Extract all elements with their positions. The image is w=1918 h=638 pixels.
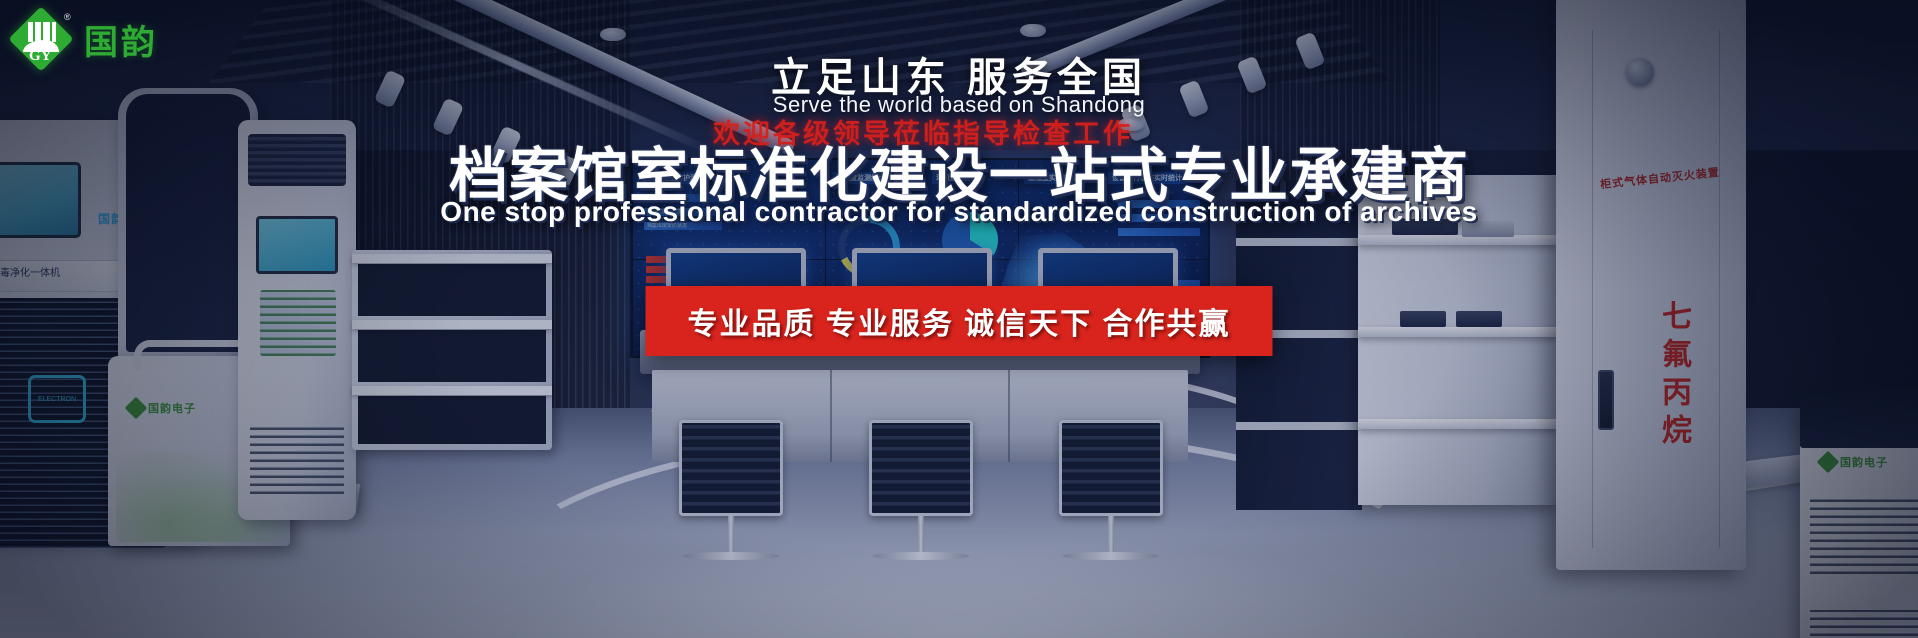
smoke-detector-icon <box>600 28 626 41</box>
smoke-detector-icon <box>1020 24 1046 37</box>
corner-equipment-unit: 国韵电子 <box>1800 410 1918 638</box>
ac-bottom-vent <box>250 424 344 494</box>
chair-base <box>683 552 779 560</box>
gy-diamond-icon <box>125 397 148 420</box>
dehumidifier-brand: 国韵电子 <box>128 400 196 416</box>
office-chair <box>672 420 790 570</box>
shelf-board <box>1358 235 1558 245</box>
shelf-board <box>1236 422 1362 430</box>
shelf-bay <box>358 264 546 316</box>
archive-box <box>1400 311 1446 327</box>
gy-brand-label: 国韵电子 <box>1840 454 1888 470</box>
shelf-bay <box>358 330 546 382</box>
banner-root: 国韵电子 温湿消毒净化一体机 ELECTRON 国韵电子 <box>0 0 1918 638</box>
chair-base <box>1063 552 1159 560</box>
logo-buildings-icon <box>28 22 56 42</box>
fire-cabinet-vertical-label: 七氟丙烷 <box>1651 300 1695 452</box>
hero-headline-en: One stop professional contractor for sta… <box>0 196 1918 228</box>
cabinet-latch-icon <box>1598 370 1614 430</box>
gy-logo-icon: 国韵电子 <box>128 400 196 416</box>
tagline-en: Serve the world based on Shandong <box>0 92 1918 118</box>
video-wall-list-item <box>1118 228 1200 236</box>
shelf-bay <box>358 396 546 444</box>
ac-green-panel <box>260 290 336 356</box>
chair-back <box>1059 420 1163 516</box>
shelf-board <box>1236 238 1362 246</box>
chair-post <box>918 516 924 552</box>
shelf-board <box>352 386 552 395</box>
corner-unit-vents <box>1810 496 1918 574</box>
archive-box <box>1456 311 1502 327</box>
gy-brand-label: 国韵电子 <box>148 400 196 416</box>
chair-post <box>1108 516 1114 552</box>
chair-back <box>869 420 973 516</box>
corner-unit-top <box>1800 388 1918 448</box>
cta-banner-text: 专业品质 专业服务 诚信天下 合作共赢 <box>687 308 1230 341</box>
chair-back <box>679 420 783 516</box>
console-seam <box>1008 370 1010 462</box>
archive-shelf-left <box>352 250 552 450</box>
cta-banner[interactable]: 专业品质 专业服务 诚信天下 合作共赢 <box>645 286 1272 356</box>
shelf-board <box>1358 327 1558 337</box>
registered-mark-icon: ® <box>64 12 71 22</box>
gy-diamond-icon <box>1817 451 1840 474</box>
office-chair <box>1052 420 1170 570</box>
chair-post <box>728 516 734 552</box>
corner-unit-brand: 国韵电子 <box>1820 454 1888 470</box>
console-seam <box>830 370 832 462</box>
shelf-board <box>1358 419 1558 429</box>
shelf-board <box>352 320 552 329</box>
office-chair <box>862 420 980 570</box>
purifier-chip-label: ELECTRON <box>28 375 86 423</box>
shelf-board <box>352 254 552 263</box>
chair-base <box>873 552 969 560</box>
corner-unit-vents <box>1810 610 1918 638</box>
